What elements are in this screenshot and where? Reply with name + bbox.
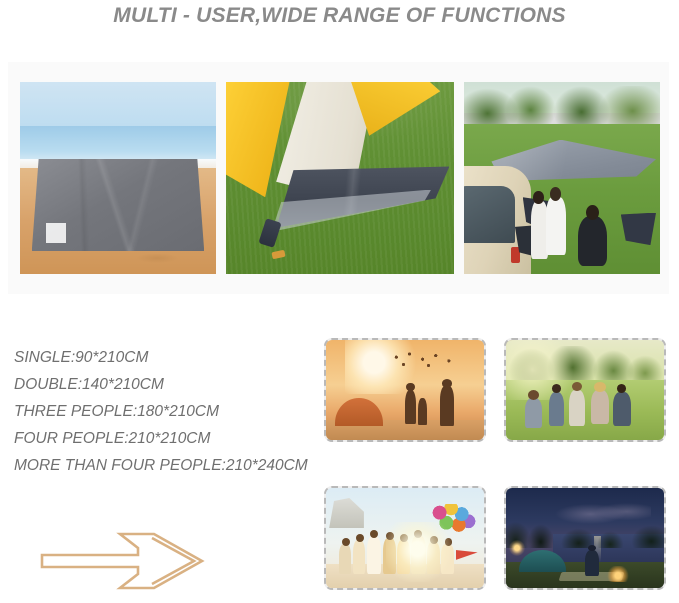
person-figure xyxy=(585,550,599,576)
size-specification-list: SINGLE:90*210CM DOUBLE:140*210CM THREE P… xyxy=(14,344,314,479)
size-line: FOUR PEOPLE:210*210CM xyxy=(14,425,314,452)
person-figure xyxy=(339,544,352,574)
right-arrow-graphic xyxy=(34,528,214,594)
tent-footprint-photo xyxy=(226,82,454,274)
person-figure xyxy=(353,540,366,574)
page-title: MULTI - USER,WIDE RANGE OF FUNCTIONS xyxy=(0,0,679,30)
person-head xyxy=(572,382,581,391)
size-line: DOUBLE:140*210CM xyxy=(14,371,314,398)
thumbnail-image xyxy=(326,340,484,440)
right-arrow-icon xyxy=(34,528,214,594)
size-line: SINGLE:90*210CM xyxy=(14,344,314,371)
person-figure xyxy=(367,536,381,574)
gray-tarp-shape xyxy=(32,159,204,251)
campfire-glow xyxy=(607,566,629,582)
size-line: THREE PEOPLE:180*210CM xyxy=(14,398,314,425)
person-figure xyxy=(549,392,565,426)
person-figure xyxy=(525,398,542,428)
beach-tarp-photo xyxy=(20,82,216,274)
brand-logo-patch xyxy=(46,223,66,243)
person-figure xyxy=(569,390,585,426)
car-rear-window xyxy=(464,186,515,244)
size-line: MORE THAN FOUR PEOPLE:210*240CM xyxy=(14,452,314,479)
person-head xyxy=(356,534,364,542)
thumbnail-image xyxy=(326,488,484,588)
thumbnail-image xyxy=(506,340,664,440)
person-figure xyxy=(591,390,608,424)
sun-flare xyxy=(386,522,456,582)
person-silhouette xyxy=(405,390,416,424)
treeline-layer xyxy=(506,518,664,548)
sunset-camping-thumb xyxy=(324,338,486,442)
person-silhouette xyxy=(418,398,427,425)
picnic-group-thumb xyxy=(504,338,666,442)
sky-layer xyxy=(20,82,216,132)
person-silhouette xyxy=(440,386,454,426)
camping-chair xyxy=(621,213,656,246)
birds-flock xyxy=(389,352,462,378)
thumbnail-image xyxy=(506,488,664,588)
person-figure xyxy=(578,216,607,266)
person-figure xyxy=(613,392,630,426)
beach-party-thumb xyxy=(324,486,486,590)
person-head xyxy=(594,382,605,392)
night-lakeside-thumb xyxy=(504,486,666,590)
person-head xyxy=(617,384,626,393)
car-awning-photo xyxy=(464,82,660,274)
hero-photo-panel xyxy=(8,62,669,294)
lantern-glow xyxy=(509,540,525,556)
person-head xyxy=(342,538,350,546)
car-tail-light xyxy=(511,247,520,263)
person-figure xyxy=(546,197,566,255)
